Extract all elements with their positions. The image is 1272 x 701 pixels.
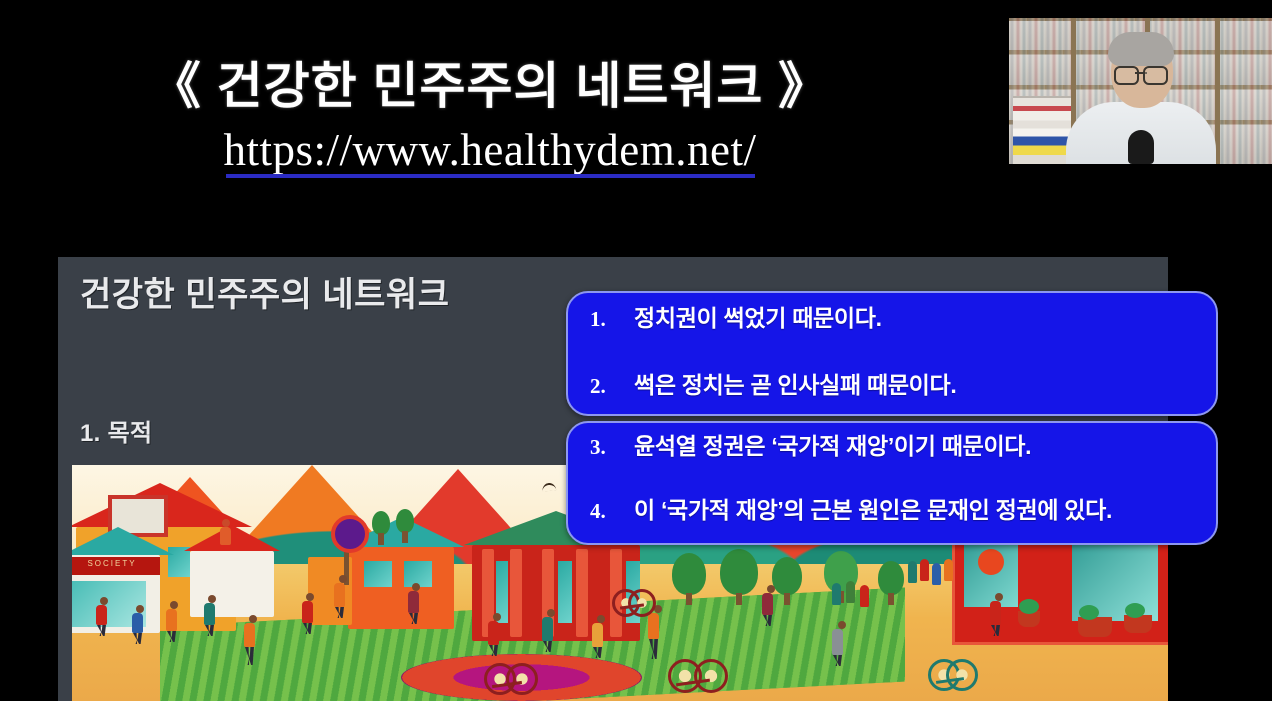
person-figure	[542, 609, 560, 661]
bicycle-icon	[612, 593, 656, 617]
glasses-icon	[1114, 66, 1168, 81]
callout-number: 1.	[584, 307, 634, 332]
column	[576, 549, 588, 637]
tree-icon	[720, 549, 758, 595]
webcam-video-frame	[1009, 18, 1272, 164]
building-roof	[184, 525, 280, 551]
callout-item: 4. 이 ‘국가적 재앙’의 근본 원인은 문재인 정권에 있다.	[568, 487, 1216, 551]
shelf-divider-icon	[1215, 18, 1220, 164]
callout-item: 3. 윤석열 정권은 ‘국가적 재앙’이기 때문이다.	[568, 423, 1216, 487]
callout-item: 1. 정치권이 썩었기 때문이다.	[568, 293, 1216, 360]
person-figure	[832, 621, 852, 675]
tree-icon	[372, 511, 390, 535]
crowd-figure	[846, 581, 855, 603]
slide-heading: 건강한 민주주의 네트워크	[80, 267, 449, 316]
tree-icon	[396, 509, 414, 533]
crowd-figure	[932, 563, 941, 585]
person-figure	[244, 615, 262, 667]
potted-plant	[1018, 611, 1040, 627]
crowd-figure	[860, 585, 869, 607]
site-url-link[interactable]: https://www.healthydem.net/	[224, 126, 757, 178]
person-figure	[204, 595, 220, 641]
callout-text: 정치권이 썩었기 때문이다.	[634, 299, 882, 333]
civic-window	[558, 561, 572, 623]
slide-section-title: 1. 목적	[80, 413, 152, 448]
book-stack	[1013, 96, 1071, 164]
person-figure	[166, 601, 182, 647]
person-figure	[592, 615, 610, 667]
person-figure	[132, 605, 148, 649]
callout-text: 이 ‘국가적 재앙’의 근본 원인은 문재인 정권에 있다.	[634, 491, 1112, 525]
crowd-figure	[920, 559, 929, 581]
bicycle-icon	[668, 661, 728, 693]
column	[510, 549, 522, 637]
statue-figure	[220, 519, 231, 553]
callout-number: 2.	[584, 374, 634, 399]
person-figure	[762, 585, 780, 633]
webcam-inset[interactable]	[997, 8, 1272, 164]
callout-text: 윤석열 정권은 ‘국가적 재앙’이기 때문이다.	[634, 427, 1031, 461]
callout-box-1: 1. 정치권이 썩었기 때문이다. 2. 썩은 정치는 곧 인사실패 때문이다.	[566, 291, 1218, 416]
building-window	[364, 561, 392, 587]
callout-number: 3.	[584, 435, 634, 460]
shop-sign: SOCIETY	[72, 557, 160, 575]
potted-plant	[1078, 617, 1112, 637]
tree-icon	[672, 553, 706, 595]
building-body	[190, 551, 274, 617]
sun-decal	[978, 549, 1004, 575]
crowd-figure	[832, 583, 841, 605]
person-figure	[96, 597, 112, 641]
callout-number: 4.	[584, 499, 634, 524]
person-figure	[302, 593, 318, 641]
person-figure	[408, 583, 424, 629]
person-figure	[990, 593, 1008, 643]
bicycle-icon	[484, 665, 538, 695]
callout-box-2: 3. 윤석열 정권은 ‘국가적 재앙’이기 때문이다. 4. 이 ‘국가적 재앙…	[566, 421, 1218, 545]
potted-plant	[1124, 615, 1152, 633]
tree-icon	[878, 561, 904, 595]
crowd-figure	[944, 559, 953, 581]
building-body	[348, 547, 454, 629]
person-figure	[488, 613, 506, 663]
presenter-hair	[1108, 32, 1174, 66]
crowd-figure	[908, 561, 917, 583]
page-title: 《 건강한 민주주의 네트워크 》	[0, 58, 980, 116]
callout-text: 썩은 정치는 곧 인사실패 때문이다.	[634, 366, 957, 400]
awning-roof	[72, 527, 174, 555]
callout-item: 2. 썩은 정치는 곧 인사실패 때문이다.	[568, 360, 1216, 427]
person-figure	[334, 575, 352, 625]
title-block: 《 건강한 민주주의 네트워크 》 https://www.healthydem…	[0, 58, 980, 177]
microphone-icon	[1128, 130, 1154, 164]
bicycle-icon	[928, 663, 978, 691]
